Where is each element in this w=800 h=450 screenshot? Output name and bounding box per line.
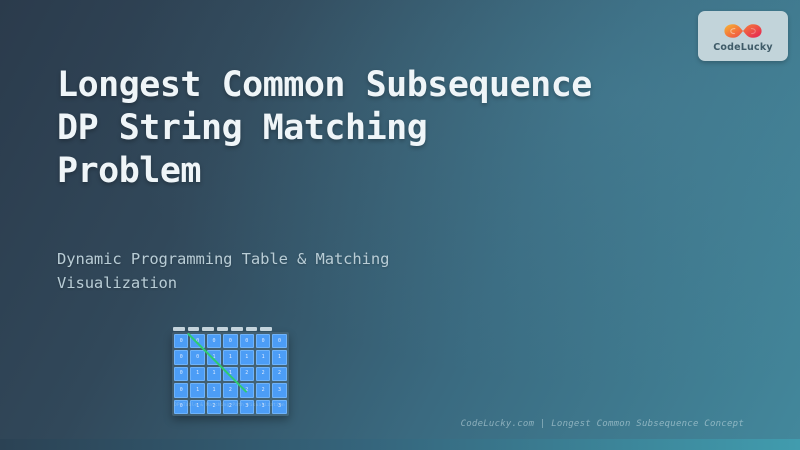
- dp-table-cell: 0: [240, 334, 254, 348]
- dp-table-cell: 0: [223, 334, 237, 348]
- dp-table-cell: 1: [190, 383, 204, 397]
- dp-table-cell: 1: [272, 350, 286, 364]
- dp-table-cell: 2: [272, 367, 286, 381]
- dp-table-row: 0111222: [174, 367, 287, 381]
- dp-table-header-cell: [202, 327, 214, 331]
- dp-table-header-cell: [260, 327, 272, 331]
- dp-table-cell: 2: [240, 383, 254, 397]
- dp-table-cell: 0: [207, 334, 221, 348]
- dp-table-cell: 0: [174, 367, 188, 381]
- dp-table-cell: 0: [190, 350, 204, 364]
- dp-table-cell: 0: [272, 334, 286, 348]
- dp-table-cell: 1: [190, 367, 204, 381]
- dp-table-column-headers: [173, 327, 289, 331]
- bottom-accent-bar: [0, 439, 800, 450]
- dp-table-cell: 1: [240, 350, 254, 364]
- dp-table-cell: 1: [207, 367, 221, 381]
- dp-table-cell: 1: [256, 350, 270, 364]
- dp-table-cell: 0: [174, 383, 188, 397]
- dp-table-cell: 1: [223, 350, 237, 364]
- dp-table-header-cell: [246, 327, 258, 331]
- dp-table-cell: 1: [207, 350, 221, 364]
- dp-table-header-cell: [231, 327, 243, 331]
- dp-table-cell: 2: [256, 383, 270, 397]
- dp-table-row: 0000000: [174, 334, 287, 348]
- page-subtitle: Dynamic Programming Table & Matching Vis…: [57, 248, 487, 295]
- figure-caption: DP Table & Matching Path Visualization: [174, 403, 384, 409]
- dp-table-cell: 0: [174, 334, 188, 348]
- dp-table-cell: 1: [207, 383, 221, 397]
- dp-table-cell: 2: [223, 383, 237, 397]
- dp-table-cell: 0: [256, 334, 270, 348]
- infinity-loop-icon: [722, 20, 764, 42]
- presentation-slide: CodeLucky Longest Common Subsequence DP …: [0, 0, 800, 450]
- dp-table-cell: 0: [190, 334, 204, 348]
- footer-note: CodeLucky.com | Longest Common Subsequen…: [461, 419, 744, 429]
- dp-table-row: 0011111: [174, 350, 287, 364]
- dp-table-row: 0112223: [174, 383, 287, 397]
- dp-table-cell: 2: [240, 367, 254, 381]
- dp-table-cell: 0: [174, 350, 188, 364]
- dp-table-cell: 2: [256, 367, 270, 381]
- dp-table-cell: 3: [272, 383, 286, 397]
- brand-logo-card[interactable]: CodeLucky: [698, 11, 788, 61]
- page-title: Longest Common Subsequence DP String Mat…: [57, 64, 617, 193]
- dp-table-figure: 00000000011111011122201122230122333 DP T…: [172, 327, 289, 416]
- dp-table-cell: 1: [223, 367, 237, 381]
- dp-table-header-cell: [188, 327, 200, 331]
- brand-name: CodeLucky: [713, 43, 773, 53]
- dp-table-header-cell: [217, 327, 229, 331]
- dp-table-header-cell: [173, 327, 185, 331]
